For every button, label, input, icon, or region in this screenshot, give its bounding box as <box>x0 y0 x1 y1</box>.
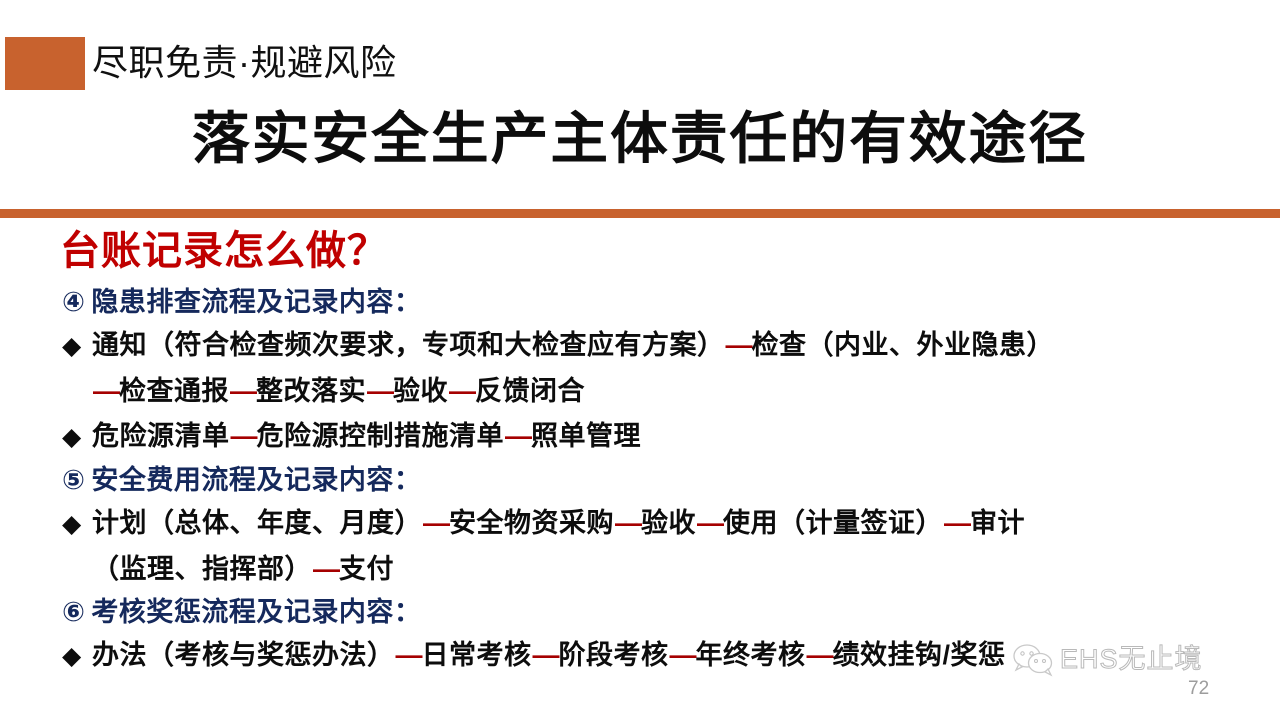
header-kicker: 尽职免责·规避风险 <box>92 38 397 88</box>
bullet-text: 阶段考核 <box>559 640 669 670</box>
connector-dash: — <box>725 330 752 360</box>
header-divider-bar <box>0 209 1280 218</box>
bullet-text: 整改落实 <box>256 376 366 406</box>
bullet-line: ◆办法（考核与奖惩办法）—日常考核—阶段考核—年终考核—绩效挂钩/奖惩 <box>62 633 1280 679</box>
connector-dash: — <box>230 421 257 451</box>
connector-dash: — <box>366 376 393 406</box>
bullet-line: ◆危险源清单—危险源控制措施清单—照单管理 <box>62 414 1280 460</box>
connector-dash: — <box>943 508 970 538</box>
numbered-item-6: ⑥考核奖惩流程及记录内容： <box>62 592 1280 633</box>
numbered-item-4: ④隐患排查流程及记录内容： <box>62 282 1280 323</box>
diamond-bullet-icon: ◆ <box>62 634 92 679</box>
bullet-continuation-line: —检查通报—整改落实—验收—反馈闭合 <box>92 369 1280 414</box>
bullet-text: 照单管理 <box>531 421 641 451</box>
item-marker-6: ⑥ <box>62 597 85 627</box>
connector-dash: — <box>92 376 119 406</box>
connector-dash: — <box>229 376 256 406</box>
bullet-line: ◆计划（总体、年度、月度）—安全物资采购—验收—使用（计量签证）—审计 <box>62 501 1280 547</box>
item-marker-4: ④ <box>62 287 85 317</box>
header-accent-square <box>5 37 85 90</box>
bullet-line: ◆通知（符合检查频次要求，专项和大检查应有方案）—检查（内业、外业隐患） <box>62 323 1280 369</box>
bullet-text: 审计 <box>970 508 1025 538</box>
bullet-text: 年终考核 <box>696 640 806 670</box>
connector-dash: — <box>312 554 339 584</box>
bullet-text: 日常考核 <box>422 640 532 670</box>
bullet-text: 使用（计量签证） <box>723 508 943 538</box>
bullet-text: 反馈闭合 <box>475 376 585 406</box>
bullet-text: 安全物资采购 <box>449 508 614 538</box>
connector-dash: — <box>532 640 559 670</box>
connector-dash: — <box>614 508 641 538</box>
item-heading-6: 考核奖惩流程及记录内容： <box>91 597 421 627</box>
item-marker-5: ⑤ <box>62 465 85 495</box>
connector-dash: — <box>448 376 475 406</box>
bullet-text: 危险源清单 <box>92 421 230 451</box>
bullet-text: 计划（总体、年度、月度） <box>92 508 422 538</box>
item-heading-4: 隐患排查流程及记录内容： <box>91 287 421 317</box>
bullet-text: 危险源控制措施清单 <box>257 421 505 451</box>
item-heading-5: 安全费用流程及记录内容： <box>91 465 421 495</box>
connector-dash: — <box>395 640 422 670</box>
diamond-bullet-icon: ◆ <box>62 324 92 369</box>
page-number: 72 <box>1188 678 1209 700</box>
bullet-text: 验收 <box>641 508 696 538</box>
page-title: 落实安全生产主体责任的有效途径 <box>0 104 1280 174</box>
bullet-text: 办法（考核与奖惩办法） <box>92 640 395 670</box>
connector-dash: — <box>504 421 531 451</box>
bullet-text: （监理、指挥部） <box>92 554 312 584</box>
bullet-text: 验收 <box>393 376 448 406</box>
section-question-heading: 台账记录怎么做？ <box>60 222 1280 280</box>
bullet-text: 绩效挂钩/奖惩 <box>833 640 1006 670</box>
bullet-text: 检查通报 <box>119 376 229 406</box>
bullet-text: 支付 <box>339 554 394 584</box>
diamond-bullet-icon: ◆ <box>62 415 92 460</box>
connector-dash: — <box>696 508 723 538</box>
diamond-bullet-icon: ◆ <box>62 502 92 547</box>
slide-content: 台账记录怎么做？ ④隐患排查流程及记录内容： ◆通知（符合检查频次要求，专项和大… <box>0 222 1280 679</box>
numbered-item-5: ⑤安全费用流程及记录内容： <box>62 460 1280 501</box>
connector-dash: — <box>806 640 833 670</box>
bullet-continuation-line: （监理、指挥部）—支付 <box>92 547 1280 592</box>
bullet-text: 检查（内业、外业隐患） <box>752 330 1055 360</box>
bullet-text: 通知（符合检查频次要求，专项和大检查应有方案） <box>92 330 725 360</box>
connector-dash: — <box>669 640 696 670</box>
connector-dash: — <box>422 508 449 538</box>
